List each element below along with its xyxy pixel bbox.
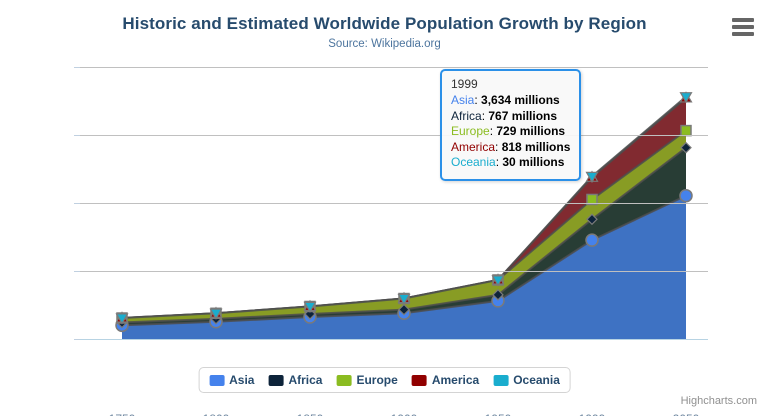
y-axis-tick bbox=[74, 67, 80, 68]
hamburger-bar-3 bbox=[732, 32, 754, 36]
x-axis-tick-label: 1750 bbox=[87, 412, 157, 416]
tooltip-separator: : bbox=[495, 140, 502, 154]
tooltip-series-name: Oceania bbox=[451, 155, 496, 169]
tooltip-series-value: 767 millions bbox=[488, 109, 557, 123]
chart-tooltip: 1999 Asia: 3,634 millionsAfrica: 767 mil… bbox=[440, 69, 581, 181]
tooltip-series-name: America bbox=[451, 140, 495, 154]
y-axis-tick bbox=[74, 203, 80, 204]
y-axis-tick bbox=[74, 339, 80, 340]
legend-swatch-icon bbox=[412, 375, 427, 386]
x-axis-tick-label: 1900 bbox=[369, 412, 439, 416]
hamburger-menu-icon[interactable] bbox=[731, 16, 755, 38]
legend-swatch-icon bbox=[268, 375, 283, 386]
tooltip-separator: : bbox=[474, 93, 481, 107]
tooltip-row-america: America: 818 millions bbox=[451, 140, 570, 156]
plot-area: 02.557.5101750180018501900195019992050 bbox=[80, 67, 708, 339]
tooltip-row-europe: Europe: 729 millions bbox=[451, 124, 570, 140]
hamburger-bar-1 bbox=[732, 18, 754, 22]
x-axis-tick-label: 2050 bbox=[651, 412, 721, 416]
gridline bbox=[80, 67, 708, 68]
x-axis-tick-label: 1800 bbox=[181, 412, 251, 416]
chart-title: Historic and Estimated Worldwide Populat… bbox=[0, 14, 769, 34]
gridline bbox=[80, 135, 708, 136]
tooltip-series-name: Africa bbox=[451, 109, 482, 123]
tooltip-row-oceania: Oceania: 30 millions bbox=[451, 155, 570, 171]
x-axis-tick-label: 1950 bbox=[463, 412, 533, 416]
credits-label[interactable]: Highcharts.com bbox=[681, 395, 757, 407]
legend-swatch-icon bbox=[336, 375, 351, 386]
legend-item-label: Europe bbox=[356, 373, 397, 387]
hamburger-bar-2 bbox=[732, 25, 754, 29]
tooltip-series-value: 818 millions bbox=[502, 140, 571, 154]
chart-subtitle: Source: Wikipedia.org bbox=[0, 38, 769, 50]
gridline bbox=[80, 339, 708, 340]
legend-swatch-icon bbox=[493, 375, 508, 386]
legend-item-oceania[interactable]: Oceania bbox=[493, 373, 560, 387]
x-axis-tick-label: 1850 bbox=[275, 412, 345, 416]
tooltip-rows: Asia: 3,634 millionsAfrica: 767 millions… bbox=[451, 93, 570, 171]
legend-item-america[interactable]: America bbox=[412, 373, 479, 387]
legend-item-label: Africa bbox=[288, 373, 322, 387]
legend-item-asia[interactable]: Asia bbox=[209, 373, 254, 387]
tooltip-series-value: 3,634 millions bbox=[481, 93, 560, 107]
tooltip-row-africa: Africa: 767 millions bbox=[451, 109, 570, 125]
tooltip-series-value: 729 millions bbox=[496, 124, 565, 138]
gridline bbox=[80, 271, 708, 272]
legend-item-label: Asia bbox=[229, 373, 254, 387]
tooltip-header: 1999 bbox=[451, 77, 570, 91]
legend-item-africa[interactable]: Africa bbox=[268, 373, 322, 387]
legend-item-label: Oceania bbox=[513, 373, 560, 387]
tooltip-row-asia: Asia: 3,634 millions bbox=[451, 93, 570, 109]
highcharts-chart: Historic and Estimated Worldwide Populat… bbox=[0, 0, 769, 416]
tooltip-series-name: Asia bbox=[451, 93, 474, 107]
legend-swatch-icon bbox=[209, 375, 224, 386]
legend-item-europe[interactable]: Europe bbox=[336, 373, 397, 387]
y-axis-tick bbox=[74, 135, 80, 136]
y-axis-tick bbox=[74, 271, 80, 272]
legend-item-label: America bbox=[432, 373, 479, 387]
tooltip-series-value: 30 millions bbox=[502, 155, 564, 169]
x-axis-tick-label: 1999 bbox=[557, 412, 627, 416]
gridline bbox=[80, 203, 708, 204]
chart-legend: AsiaAfricaEuropeAmericaOceania bbox=[198, 367, 571, 393]
tooltip-series-name: Europe bbox=[451, 124, 490, 138]
